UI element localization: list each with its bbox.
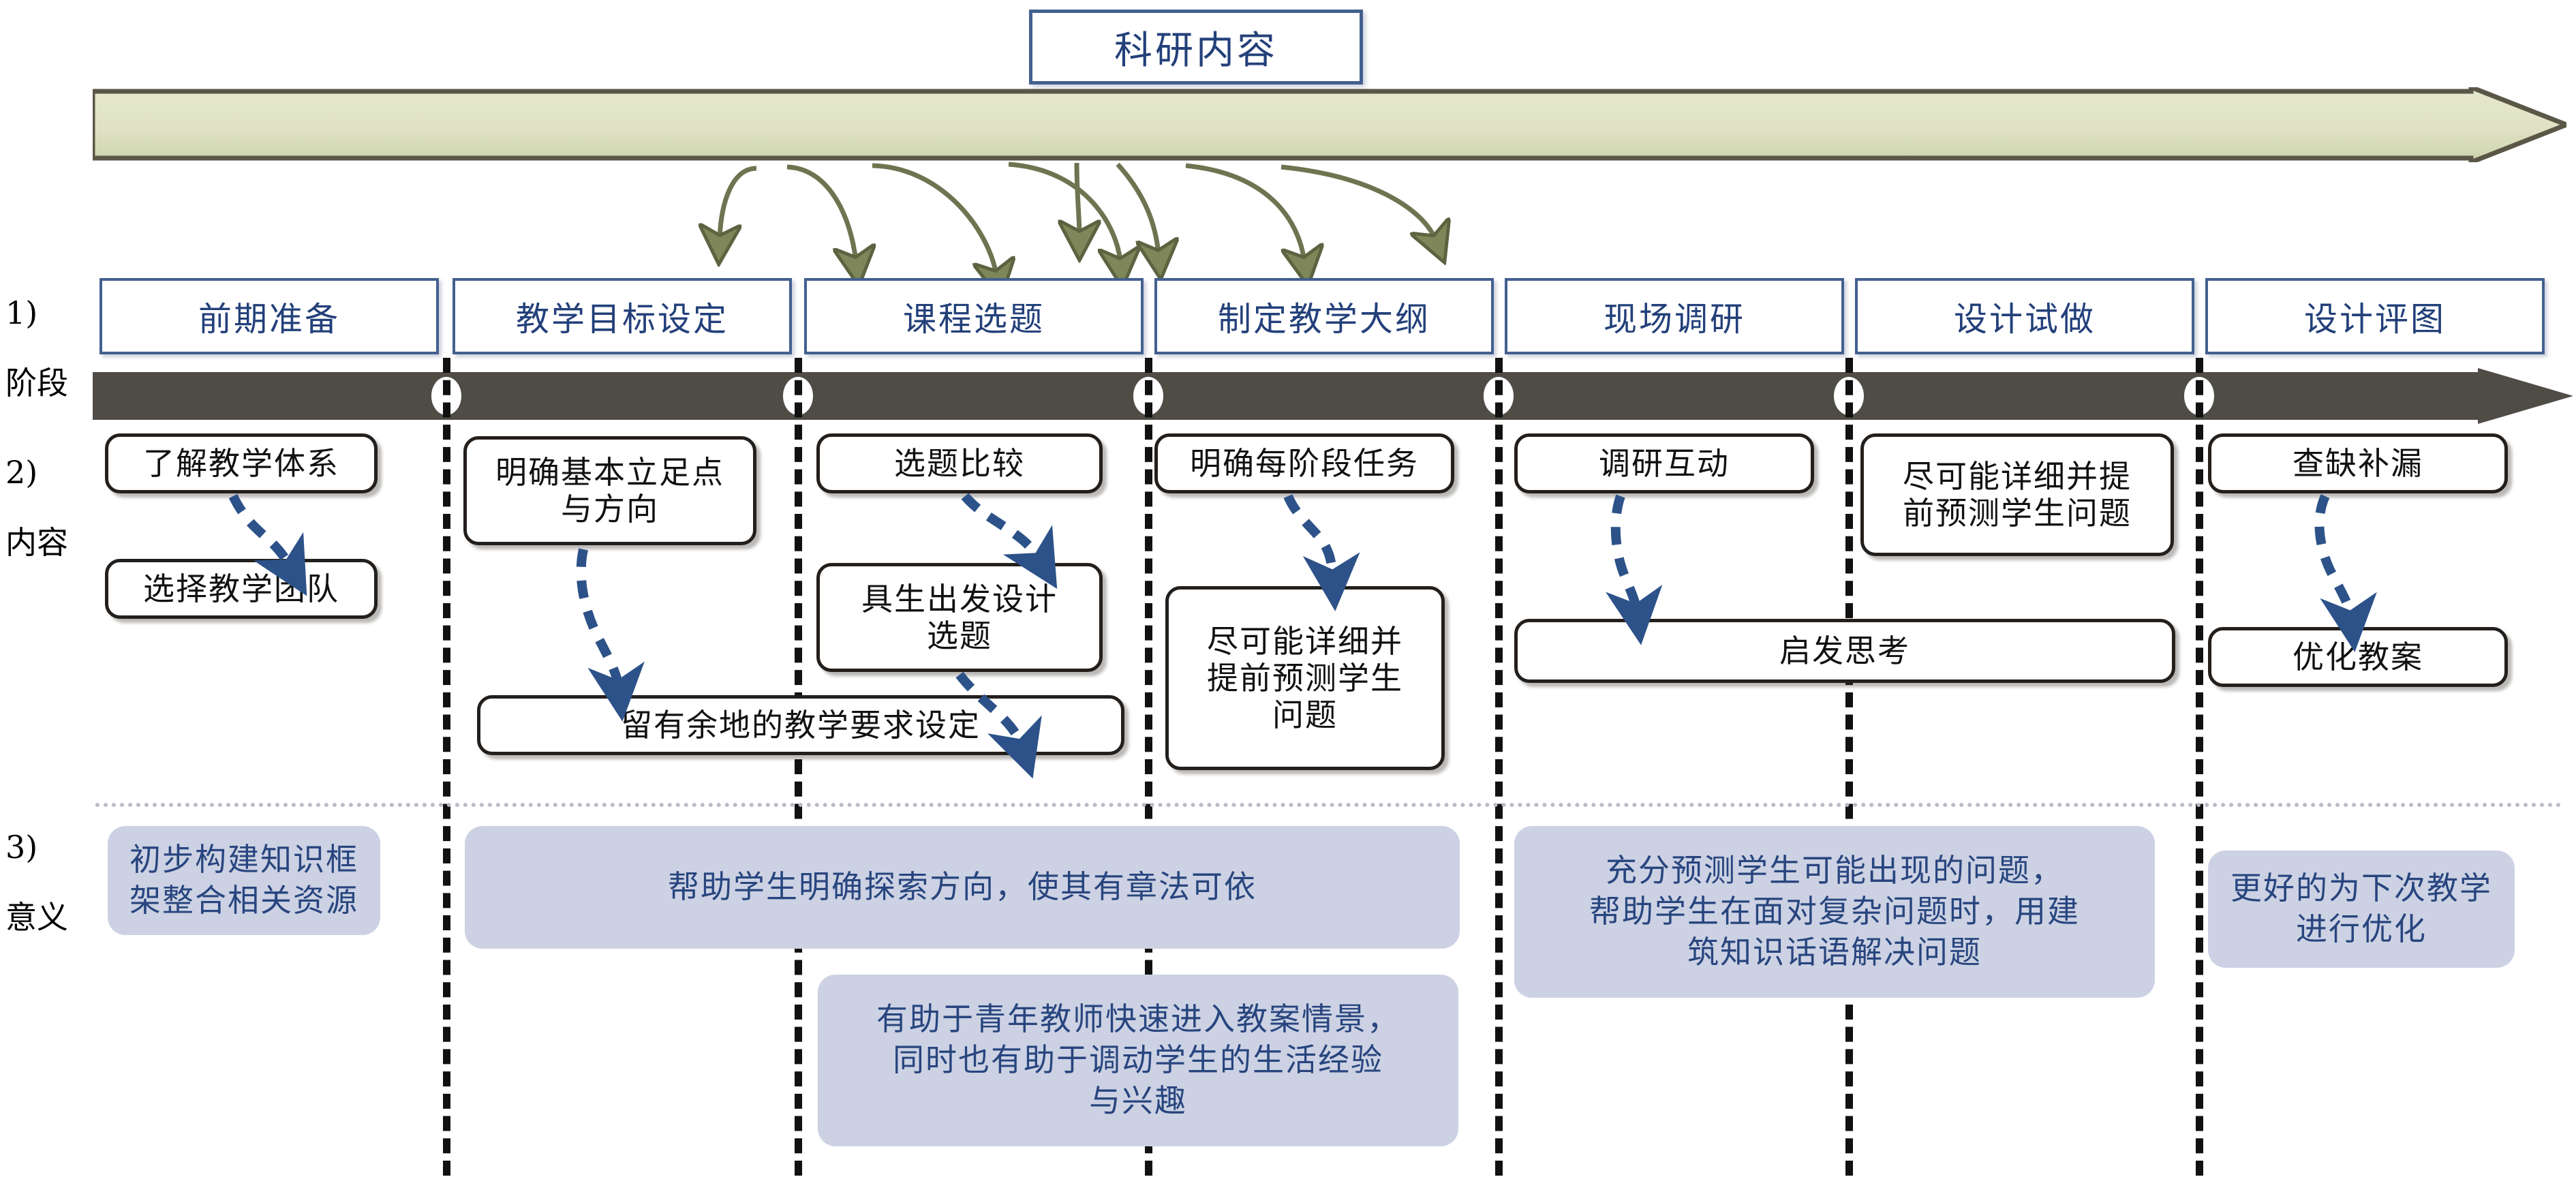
meaning-text-2: 帮助学生明确探索方向，使其有章法可依 xyxy=(668,867,1257,908)
title-text: 科研内容 xyxy=(1114,20,1278,75)
meaning-text-5: 更好的为下次教学 进行优化 xyxy=(2230,868,2492,950)
stage-box-4[interactable]: 制定教学大纲 xyxy=(1154,278,1494,354)
content-text-1: 了解教学体系 xyxy=(143,445,339,482)
meaning-box-3[interactable]: 有助于青年教师快速进入教案情景， 同时也有助于调动学生的生活经验 与兴趣 xyxy=(818,975,1458,1146)
content-box-12[interactable]: 查缺补漏 xyxy=(2208,433,2508,493)
diagram-canvas: 科研内容 xyxy=(0,0,2576,1177)
stage-box-7[interactable]: 设计评图 xyxy=(2205,278,2545,354)
meaning-text-1: 初步构建知识框 架整合相关资源 xyxy=(129,840,358,921)
connector-6 xyxy=(1616,496,1637,612)
content-text-11: 启发思考 xyxy=(1779,632,1910,669)
content-text-13: 优化教案 xyxy=(2293,639,2423,675)
title-box: 科研内容 xyxy=(1029,10,1363,85)
stage-label-1: 前期准备 xyxy=(198,292,340,341)
research-flow-arrow xyxy=(93,87,2566,162)
meaning-text-3: 有助于青年教师快速进入教案情景， 同时也有助于调动学生的生活经验 与兴趣 xyxy=(876,999,1400,1121)
content-box-13[interactable]: 优化教案 xyxy=(2208,627,2508,687)
column-divider-2 xyxy=(795,358,802,1176)
meaning-box-2[interactable]: 帮助学生明确探索方向，使其有章法可依 xyxy=(465,826,1460,949)
content-box-11[interactable]: 启发思考 xyxy=(1514,619,2175,683)
content-text-6: 具生出发设计 选题 xyxy=(861,581,1058,655)
connector-7 xyxy=(2319,496,2351,619)
stage-box-3[interactable]: 课程选题 xyxy=(804,278,1144,354)
row-name-3: 意义 xyxy=(5,899,68,936)
stage-box-5[interactable]: 现场调研 xyxy=(1505,278,1844,354)
stage-label-4: 制定教学大纲 xyxy=(1218,292,1430,341)
column-divider-5 xyxy=(1845,358,1853,1176)
stage-label-7: 设计评图 xyxy=(2304,292,2446,341)
content-text-2: 选择教学团队 xyxy=(143,570,339,607)
stage-box-2[interactable]: 教学目标设定 xyxy=(453,278,792,354)
content-box-2[interactable]: 选择教学团队 xyxy=(105,559,378,619)
content-box-3[interactable]: 明确基本立足点 与方向 xyxy=(463,436,756,545)
connector-2 xyxy=(581,549,619,688)
meaning-row-rule xyxy=(95,803,2562,807)
content-box-8[interactable]: 尽可能详细并 提前预测学生 问题 xyxy=(1165,586,1445,770)
connector-5 xyxy=(1288,496,1333,578)
row-name-1: 阶段 xyxy=(5,365,68,401)
connector-3 xyxy=(965,496,1040,560)
row-label-content: 2) 内容 xyxy=(5,420,94,560)
content-box-1[interactable]: 了解教学体系 xyxy=(105,433,378,493)
content-text-5: 选题比较 xyxy=(894,445,1025,482)
stage-label-5: 现场调研 xyxy=(1604,292,1745,341)
branching-arrows xyxy=(668,153,1472,279)
meaning-box-4[interactable]: 充分预测学生可能出现的问题， 帮助学生在面对复杂问题时，用建 筑知识话语解决问题 xyxy=(1514,826,2155,998)
content-text-3: 明确基本立足点 与方向 xyxy=(495,454,724,528)
content-text-12: 查缺补漏 xyxy=(2293,445,2423,482)
stage-box-1[interactable]: 前期准备 xyxy=(99,278,439,354)
content-text-9: 调研互动 xyxy=(1599,445,1730,482)
row-label-stage: 1) 阶段 xyxy=(5,260,94,401)
content-box-5[interactable]: 选题比较 xyxy=(816,433,1103,493)
content-box-6[interactable]: 具生出发设计 选题 xyxy=(816,563,1103,672)
column-divider-1 xyxy=(443,358,450,1176)
content-text-10: 尽可能详细并提 前预测学生问题 xyxy=(1903,458,2132,532)
stage-label-3: 课程选题 xyxy=(903,292,1045,341)
connector-1 xyxy=(233,496,290,567)
content-text-7: 明确每阶段任务 xyxy=(1190,445,1419,482)
meaning-box-1[interactable]: 初步构建知识框 架整合相关资源 xyxy=(108,826,380,935)
content-text-4: 留有余地的教学要求设定 xyxy=(621,707,981,744)
meaning-text-4: 充分预测学生可能出现的问题， 帮助学生在面对复杂问题时，用建 筑知识话语解决问题 xyxy=(1589,851,2080,973)
content-box-9[interactable]: 调研互动 xyxy=(1514,433,1814,493)
content-box-10[interactable]: 尽可能详细并提 前预测学生问题 xyxy=(1860,433,2174,556)
content-box-4[interactable]: 留有余地的教学要求设定 xyxy=(477,695,1124,755)
content-text-8: 尽可能详细并 提前预测学生 问题 xyxy=(1207,623,1403,734)
stage-box-6[interactable]: 设计试做 xyxy=(1855,278,2194,354)
content-box-7[interactable]: 明确每阶段任务 xyxy=(1154,433,1454,493)
row-name-2: 内容 xyxy=(5,524,68,561)
row-number-3: 3) xyxy=(5,829,37,866)
column-divider-6 xyxy=(2196,358,2203,1176)
row-label-meaning: 3) 意义 xyxy=(5,795,94,935)
column-divider-4 xyxy=(1495,358,1503,1176)
stage-label-6: 设计试做 xyxy=(1954,292,2096,341)
row-number-2: 2) xyxy=(5,454,37,491)
meaning-box-5[interactable]: 更好的为下次教学 进行优化 xyxy=(2208,851,2515,968)
row-number-1: 1) xyxy=(5,294,37,331)
stage-label-2: 教学目标设定 xyxy=(516,292,729,341)
